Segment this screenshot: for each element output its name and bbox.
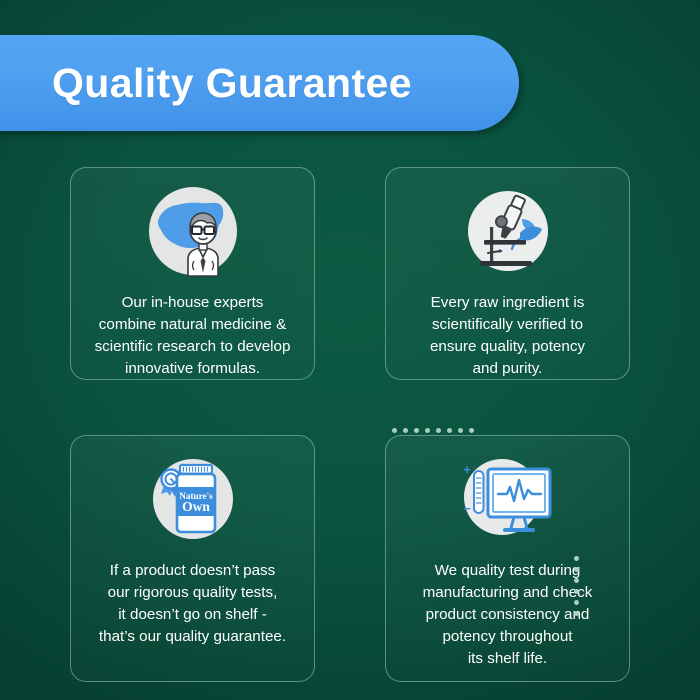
card-quality-test[interactable]: + − We quality test during manufacturing… (385, 435, 630, 682)
monitor-heartbeat-thermometer-icon: + − (454, 449, 562, 557)
connector-dot (436, 428, 441, 433)
connector-dot (414, 428, 419, 433)
connector-dot (574, 611, 579, 616)
microscope-leaf-icon (454, 181, 562, 289)
card-text-shelf-test: If a product doesn’t pass our rigorous q… (99, 560, 286, 648)
supplement-bottle-award-icon: Nature's Own (139, 449, 247, 557)
bottle-brand-line-2: Own (182, 499, 210, 514)
card-experts[interactable]: Our in-house experts combine natural med… (70, 167, 315, 380)
infographic-canvas: Quality Guarantee (0, 0, 700, 700)
connector-dot (469, 428, 474, 433)
connector-top-row (392, 428, 474, 433)
connector-dot (574, 578, 579, 583)
thermometer-plus-label: + (463, 462, 471, 477)
card-text-experts: Our in-house experts combine natural med… (95, 292, 291, 380)
card-text-raw-ingredient: Every raw ingredient is scientifically v… (430, 292, 585, 380)
connector-dot (403, 428, 408, 433)
connector-dot (392, 428, 397, 433)
page-title: Quality Guarantee (52, 60, 412, 107)
card-grid: Our in-house experts combine natural med… (70, 167, 630, 682)
connector-dot (574, 600, 579, 605)
connector-right-column (574, 556, 579, 616)
connector-dot (458, 428, 463, 433)
card-text-quality-test: We quality test during manufacturing and… (423, 560, 593, 670)
header-banner: Quality Guarantee (0, 35, 519, 131)
scientist-australia-map-icon (139, 181, 247, 289)
card-raw-ingredient[interactable]: Every raw ingredient is scientifically v… (385, 167, 630, 380)
card-shelf-test[interactable]: Nature's Own If a product doesn’t pass o… (70, 435, 315, 682)
connector-dot (574, 556, 579, 561)
connector-dot (574, 567, 579, 572)
thermometer-minus-label: − (463, 501, 471, 516)
connector-dot (425, 428, 430, 433)
connector-dot (447, 428, 452, 433)
connector-dot (574, 589, 579, 594)
